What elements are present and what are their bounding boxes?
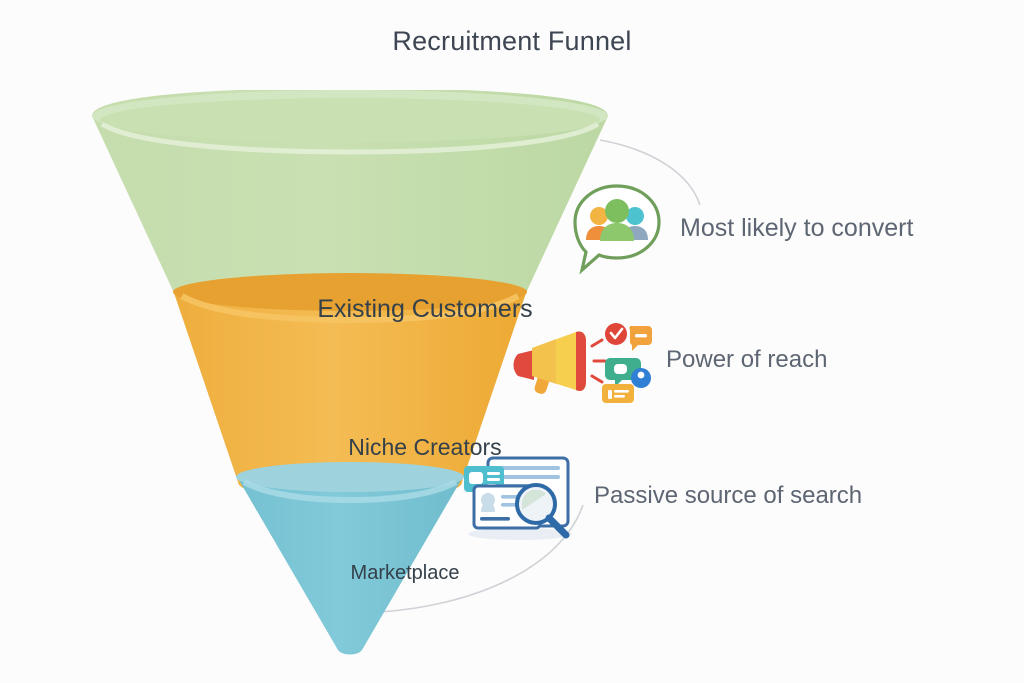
annotation-text-2: Power of reach xyxy=(666,346,827,374)
people-speech-bubble-icon xyxy=(568,180,666,276)
funnel-stage-label-3: Marketplace xyxy=(260,562,550,585)
funnel-infographic-canvas: Recruitment Funnel xyxy=(0,0,1024,683)
page-title: Recruitment Funnel xyxy=(0,26,1024,57)
annotation-text-1: Most likely to convert xyxy=(680,214,913,243)
annotation-most-likely-to-convert: Most likely to convert xyxy=(568,180,913,276)
annotation-passive-source-of-search: Passive source of search xyxy=(456,450,862,542)
document-search-icon xyxy=(456,450,584,542)
funnel-stage-3 xyxy=(236,462,464,655)
megaphone-icon xyxy=(512,316,652,404)
annotation-power-of-reach: Power of reach xyxy=(512,316,827,404)
annotation-text-3: Passive source of search xyxy=(594,482,862,510)
